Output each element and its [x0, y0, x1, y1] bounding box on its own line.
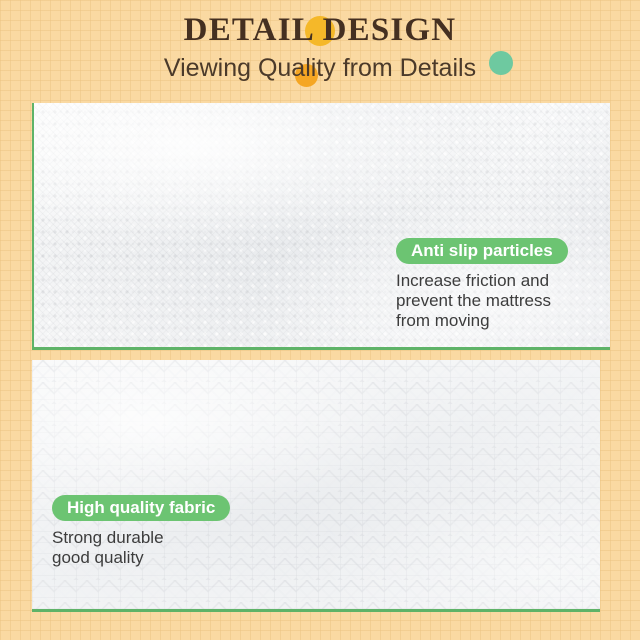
product-photo-high-quality-fabric: [32, 360, 600, 612]
title-row: DETAIL DESIGN: [0, 9, 640, 51]
callout-pill-high-quality-fabric: High quality fabric: [52, 495, 230, 521]
callout-anti-slip: Anti slip particles Increase friction an…: [396, 238, 602, 331]
page-subtitle: Viewing Quality from Details: [164, 50, 476, 86]
subtitle-row: Viewing Quality from Details: [0, 50, 640, 90]
callout-body-high-quality-fabric: Strong durable good quality: [52, 528, 272, 568]
callout-body-anti-slip: Increase friction and prevent the mattre…: [396, 271, 602, 331]
header: DETAIL DESIGN Viewing Quality from Detai…: [0, 0, 640, 96]
fabric-sheen-overlay: [32, 360, 600, 609]
detail-design-banner: DETAIL DESIGN Viewing Quality from Detai…: [0, 0, 640, 640]
callout-pill-anti-slip: Anti slip particles: [396, 238, 568, 264]
callout-high-quality-fabric: High quality fabric Strong durable good …: [52, 495, 272, 568]
page-title: DETAIL DESIGN: [184, 9, 457, 51]
subtitle-accent-circle-green: [489, 51, 513, 75]
